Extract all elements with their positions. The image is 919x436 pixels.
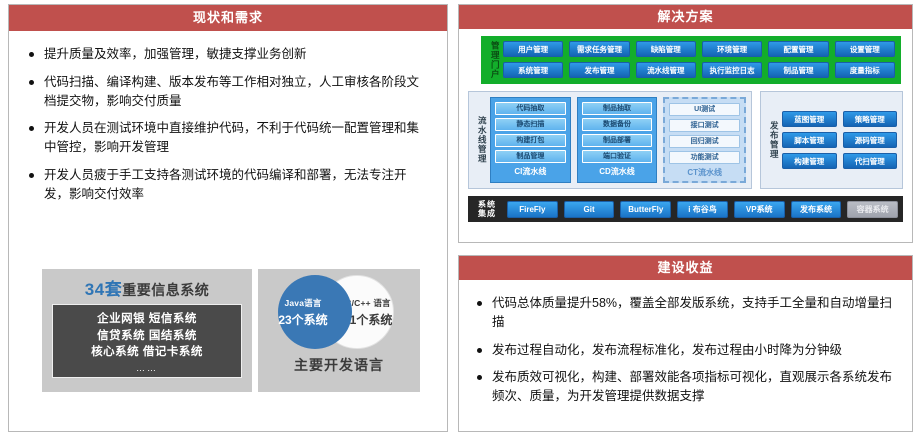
important-systems-count: 34套 (85, 280, 122, 299)
venn-cpp-label: C/C++ 语言 (345, 297, 391, 309)
panel-solution: 解决方案 管理门户 用户管理 需求任务管理 缺陷管理 环境管理 配置管理 设置管… (458, 4, 913, 243)
important-systems-title: 34套重要信息系统 (42, 269, 252, 300)
benefits-bullet-list: 代码总体质量提升58%，覆盖全部发版系统，支持手工全量和自动增量扫描 发布过程自… (471, 290, 900, 406)
list-item: 发布质效可视化，构建、部署效能各项指标可视化，直观展示各系统发布频次、质量，为开… (475, 368, 896, 406)
portal-button[interactable]: 执行监控日志 (702, 62, 762, 78)
solution-architecture-diagram: 管理门户 用户管理 需求任务管理 缺陷管理 环境管理 配置管理 设置管理 系统管… (459, 29, 912, 230)
pipeline-management-label: 流水线管理 (474, 97, 490, 183)
release-button[interactable]: 策略管理 (843, 111, 898, 127)
list-item: 代码总体质量提升58%，覆盖全部发版系统，支持手工全量和自动增量扫描 (475, 294, 896, 332)
panel-benefits-body: 代码总体质量提升58%，覆盖全部发版系统，支持手工全量和自动增量扫描 发布过程自… (459, 280, 912, 421)
pipeline-column-name: CT流水线 (669, 167, 740, 178)
release-button[interactable]: 蓝图管理 (782, 111, 837, 127)
list-item: 代码扫描、编译构建、版本发布等工作相对独立，人工审核各阶段文档提交物，影响交付质… (27, 73, 429, 111)
pipeline-stage[interactable]: UI测试 (669, 103, 740, 116)
pipeline-column-cd: 制品抽取 数据备份 制品部署 端口验证 CD流水线 (577, 97, 658, 183)
portal-button[interactable]: 流水线管理 (636, 62, 696, 78)
portal-button[interactable]: 发布管理 (569, 62, 629, 78)
venn-diagram: Java语言 23个系统 C/C++ 语言 11个系统 (258, 269, 420, 355)
pipeline-column-name: CD流水线 (582, 166, 653, 177)
pipeline-stage[interactable]: 数据备份 (582, 118, 653, 131)
integration-button[interactable]: FireFly (507, 201, 558, 218)
integration-button[interactable]: ButterFly (620, 201, 671, 218)
pipeline-column-name: CI流水线 (495, 166, 566, 177)
system-integration-label: 系统 集成 (473, 200, 501, 218)
list-item: 提升质量及效率，加强管理，敏捷支撑业务创新 (27, 45, 429, 64)
release-management-label: 发布管理 (766, 97, 782, 183)
release-button[interactable]: 构建管理 (782, 153, 837, 169)
list-item: 企业网银 短信系统 (53, 311, 241, 328)
pipeline-stage[interactable]: 制品管理 (495, 150, 566, 163)
pipeline-stage[interactable]: 制品部署 (582, 134, 653, 147)
languages-venn-card: Java语言 23个系统 C/C++ 语言 11个系统 主要开发语言 (258, 269, 420, 392)
panel-solution-title: 解决方案 (459, 5, 912, 29)
system-integration-band: 系统 集成 FireFly Git ButterFly i 布谷鸟 VP系统 发… (468, 196, 903, 222)
panel-current-status-body: 提升质量及效率，加强管理，敏捷支撑业务创新 代码扫描、编译构建、版本发布等工作相… (9, 31, 447, 218)
panel-benefits: 建设收益 代码总体质量提升58%，覆盖全部发版系统，支持手工全量和自动增量扫描 … (458, 255, 913, 432)
important-systems-title-rest: 重要信息系统 (122, 282, 209, 298)
list-item: 发布过程自动化，发布流程标准化，发布过程由小时降为分钟级 (475, 341, 896, 360)
pipeline-stage[interactable]: 代码抽取 (495, 102, 566, 115)
integration-button[interactable]: VP系统 (734, 201, 785, 218)
pipeline-columns: 代码抽取 静态扫描 构建打包 制品管理 CI流水线 制品抽取 数据备份 制品部署… (490, 97, 746, 183)
pipeline-column-ci: 代码抽取 静态扫描 构建打包 制品管理 CI流水线 (490, 97, 571, 183)
integration-button[interactable]: 发布系统 (791, 201, 842, 218)
portal-button[interactable]: 用户管理 (503, 41, 563, 57)
venn-java-label: Java语言 (284, 297, 321, 309)
venn-caption: 主要开发语言 (258, 355, 420, 375)
management-portal-buttons: 用户管理 需求任务管理 缺陷管理 环境管理 配置管理 设置管理 系统管理 发布管… (503, 41, 895, 79)
management-portal-label: 管理门户 (487, 41, 503, 79)
pipeline-stage[interactable]: 回归测试 (669, 135, 740, 148)
release-button[interactable]: 脚本管理 (782, 132, 837, 148)
current-status-graphics: 34套重要信息系统 企业网银 短信系统 信贷系统 国结系统 核心系统 借记卡系统… (42, 269, 420, 392)
pipeline-stage[interactable]: 功能测试 (669, 151, 740, 164)
important-systems-card: 34套重要信息系统 企业网银 短信系统 信贷系统 国结系统 核心系统 借记卡系统… (42, 269, 252, 392)
portal-button[interactable]: 配置管理 (768, 41, 828, 57)
release-management-box: 发布管理 蓝图管理 策略管理 脚本管理 源码管理 构建管理 代扫管理 (760, 91, 903, 189)
panel-current-status: 现状和需求 提升质量及效率，加强管理，敏捷支撑业务创新 代码扫描、编译构建、版本… (8, 4, 448, 432)
portal-button[interactable]: 缺陷管理 (636, 41, 696, 57)
portal-button[interactable]: 系统管理 (503, 62, 563, 78)
list-item: 核心系统 借记卡系统 (53, 344, 241, 361)
system-integration-items: FireFly Git ButterFly i 布谷鸟 VP系统 发布系统 容器… (507, 201, 898, 218)
panel-current-status-title: 现状和需求 (9, 5, 447, 31)
pipeline-column-ct: UI测试 接口测试 回归测试 功能测试 CT流水线 (663, 97, 746, 183)
release-management-buttons: 蓝图管理 策略管理 脚本管理 源码管理 构建管理 代扫管理 (782, 97, 897, 183)
important-systems-box: 企业网银 短信系统 信贷系统 国结系统 核心系统 借记卡系统 …… (52, 304, 242, 378)
panel-benefits-title: 建设收益 (459, 256, 912, 280)
system-integration-label-line2: 集成 (478, 209, 496, 218)
list-item: 信贷系统 国结系统 (53, 328, 241, 345)
pipeline-stage[interactable]: 端口验证 (582, 150, 653, 163)
list-item: 开发人员疲于手工支持各测试环境的代码编译和部署，无法专注开发，影响交付效率 (27, 166, 429, 204)
pipeline-stage[interactable]: 静态扫描 (495, 118, 566, 131)
venn-circle-java: Java语言 23个系统 (278, 275, 352, 349)
ellipsis-text: …… (53, 361, 241, 373)
release-button[interactable]: 源码管理 (843, 132, 898, 148)
pipeline-stage[interactable]: 制品抽取 (582, 102, 653, 115)
pipeline-stage[interactable]: 构建打包 (495, 134, 566, 147)
solution-middle-row: 流水线管理 代码抽取 静态扫描 构建打包 制品管理 CI流水线 制品抽取 数据备… (468, 91, 903, 189)
list-item: 开发人员在测试环境中直接维护代码，不利于代码统一配置管理和集中管控，影响开发管理 (27, 119, 429, 157)
release-button[interactable]: 代扫管理 (843, 153, 898, 169)
current-status-bullet-list: 提升质量及效率，加强管理，敏捷支撑业务创新 代码扫描、编译构建、版本发布等工作相… (21, 41, 435, 203)
portal-button[interactable]: 度量指标 (835, 62, 895, 78)
integration-button[interactable]: Git (564, 201, 615, 218)
slide-canvas: 现状和需求 提升质量及效率，加强管理，敏捷支撑业务创新 代码扫描、编译构建、版本… (0, 0, 919, 436)
integration-button[interactable]: 容器系统 (847, 201, 898, 218)
system-integration-label-line1: 系统 (478, 200, 496, 209)
portal-button[interactable]: 制品管理 (768, 62, 828, 78)
pipeline-stage[interactable]: 接口测试 (669, 119, 740, 132)
portal-button[interactable]: 设置管理 (835, 41, 895, 57)
venn-java-value: 23个系统 (278, 311, 327, 328)
integration-button[interactable]: i 布谷鸟 (677, 201, 728, 218)
management-portal-band: 管理门户 用户管理 需求任务管理 缺陷管理 环境管理 配置管理 设置管理 系统管… (481, 36, 901, 84)
portal-button[interactable]: 环境管理 (702, 41, 762, 57)
pipeline-management-box: 流水线管理 代码抽取 静态扫描 构建打包 制品管理 CI流水线 制品抽取 数据备… (468, 91, 752, 189)
portal-button[interactable]: 需求任务管理 (569, 41, 629, 57)
